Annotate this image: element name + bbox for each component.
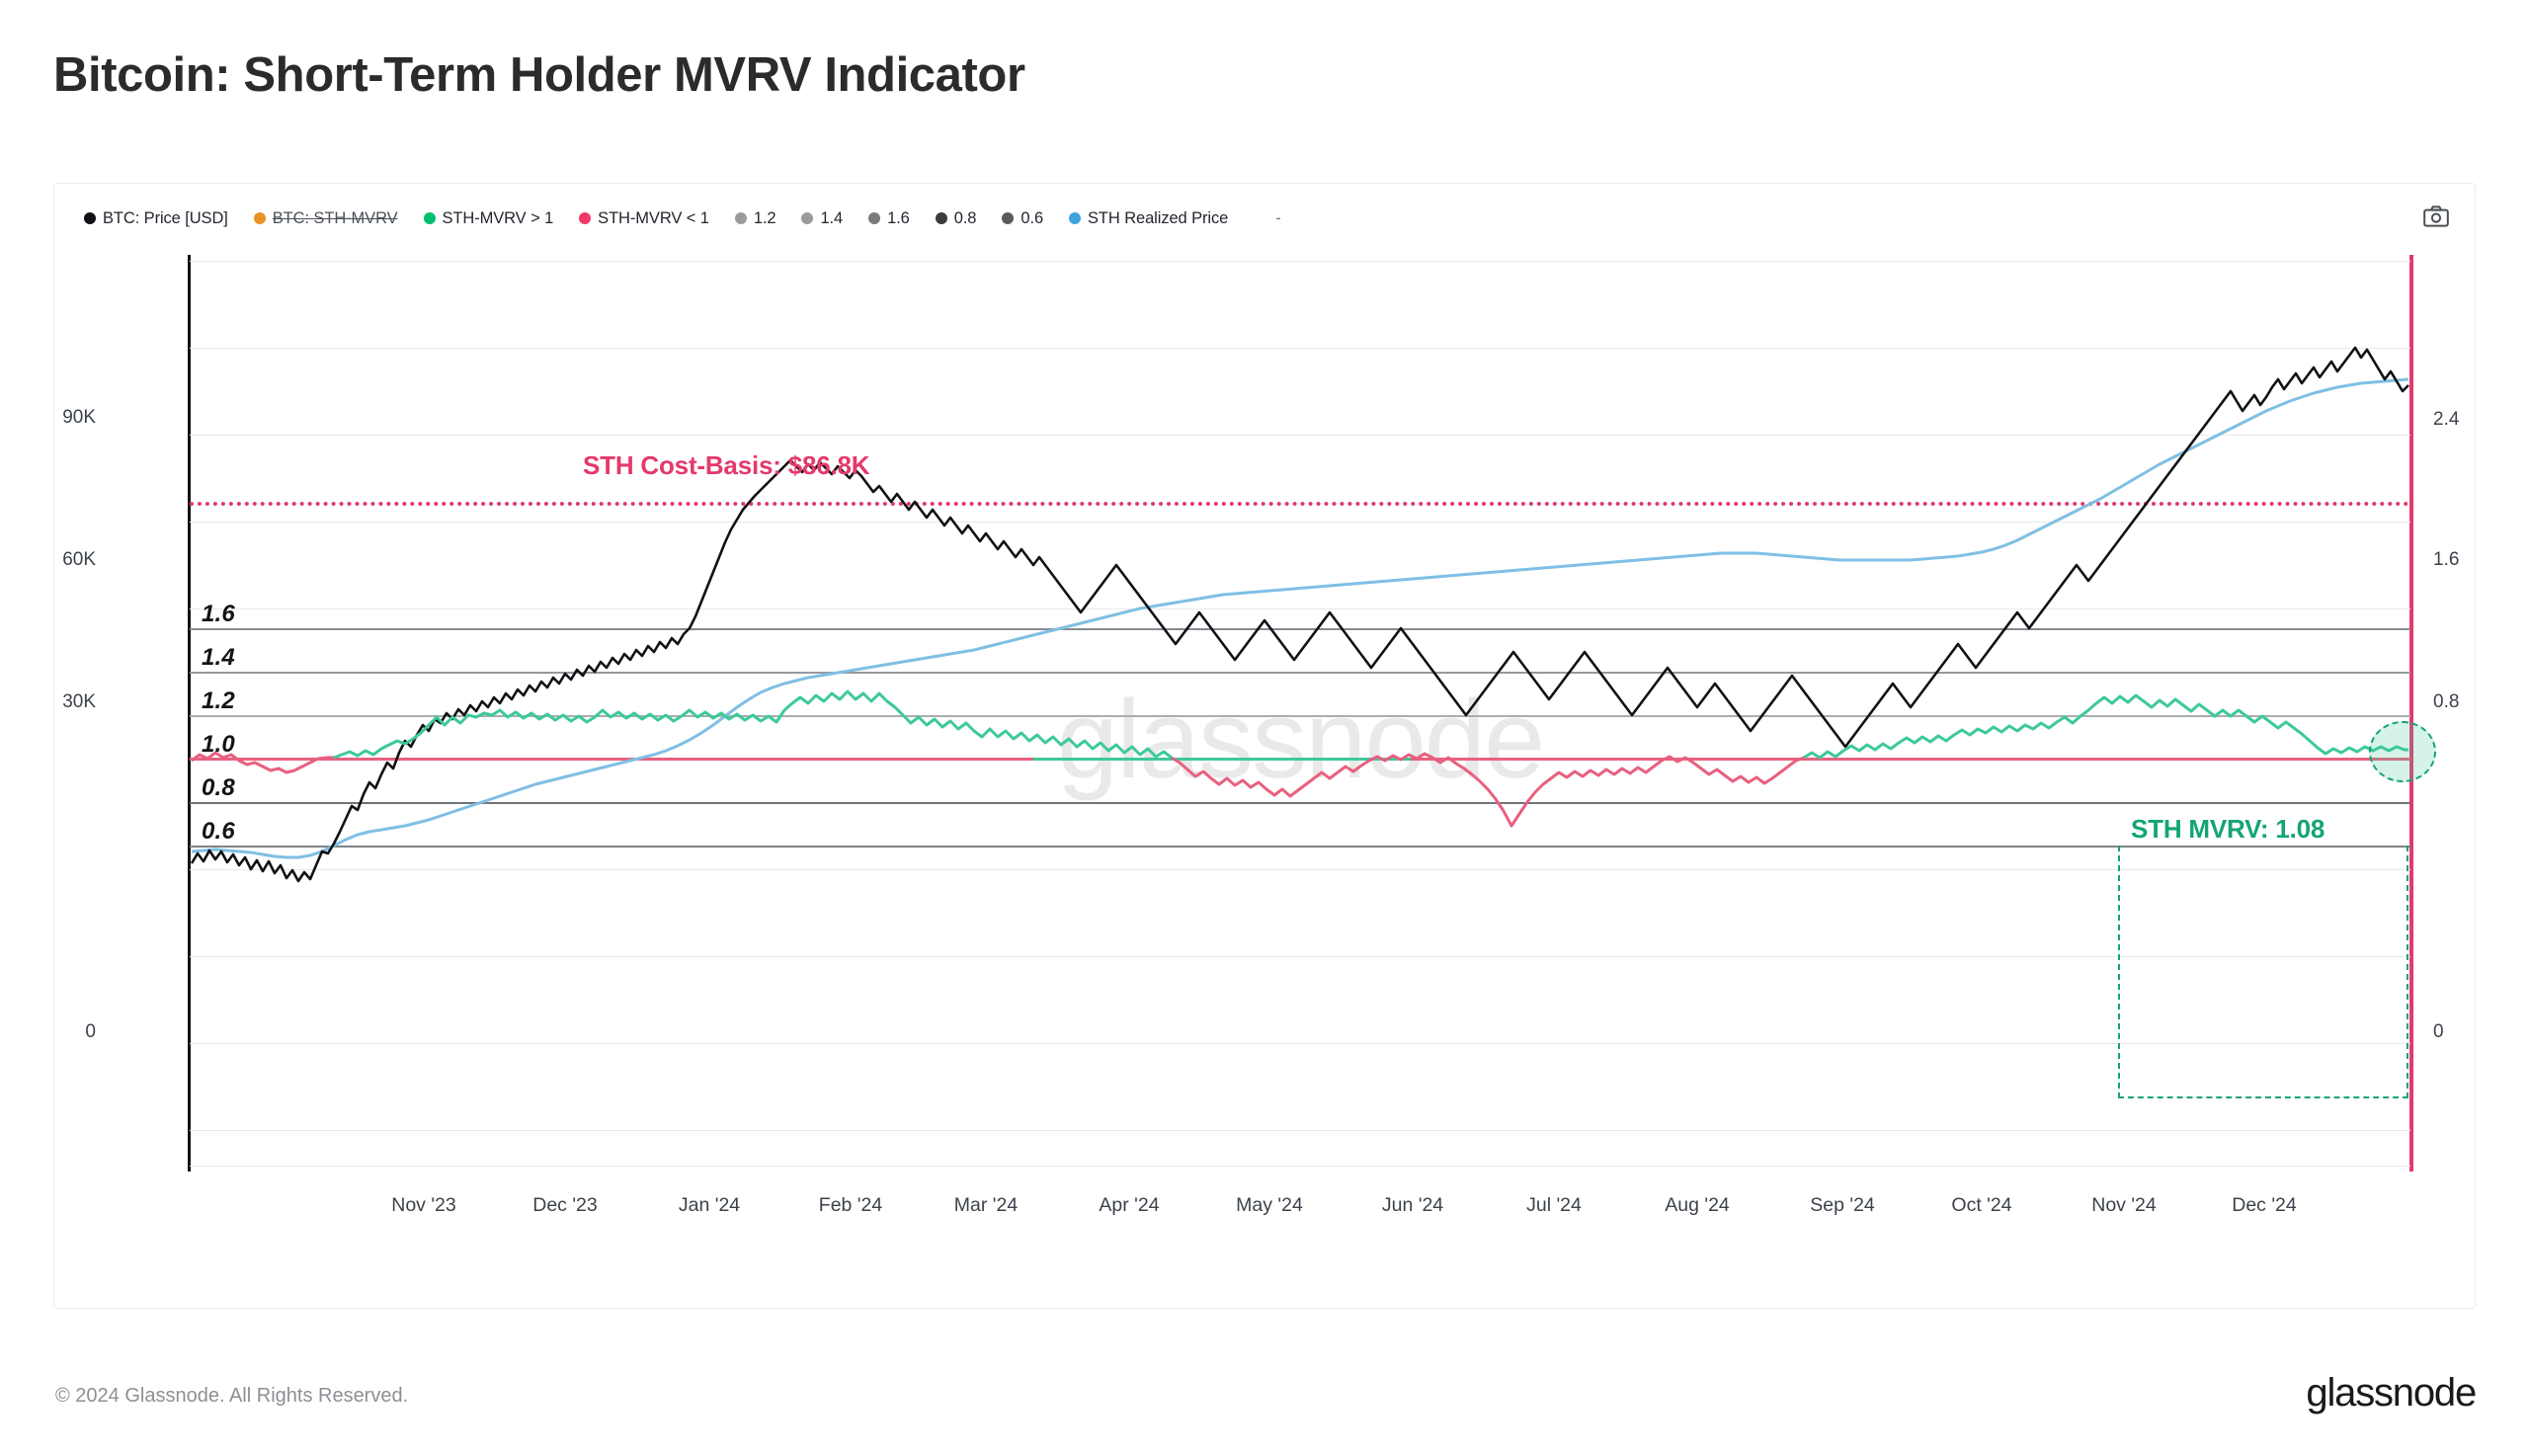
legend-dot-icon	[254, 212, 266, 224]
legend-label: BTC: STH-MVRV	[273, 209, 398, 228]
legend-item-mvrv-above-one[interactable]: STH-MVRV > 1	[424, 209, 554, 228]
y-axis-right-tick-0-8: 0.8	[2433, 691, 2459, 713]
series-btc-price	[192, 348, 2408, 881]
series-sth-realized-price	[192, 379, 2408, 857]
x-axis-tick-oct-24: Oct '24	[1951, 1194, 2011, 1217]
chart-legend: BTC: Price [USD] BTC: STH-MVRV STH-MVRV …	[84, 207, 1281, 229]
legend-dot-icon	[424, 212, 436, 224]
legend-item-mvrv-below-one[interactable]: STH-MVRV < 1	[579, 209, 709, 228]
footer-logo: glassnode	[2306, 1371, 2476, 1416]
x-axis-tick-dec-24: Dec '24	[2232, 1194, 2297, 1217]
y-axis-right-tick-1-6: 1.6	[2433, 549, 2459, 571]
mvrv-current-point-marker	[2369, 721, 2436, 782]
x-axis-tick-mar-24: Mar '24	[954, 1194, 1018, 1217]
legend-dot-icon	[936, 212, 947, 224]
x-axis-tick-nov-23: Nov '23	[391, 1194, 456, 1217]
legend-dot-icon	[801, 212, 813, 224]
legend-item-band-1-6[interactable]: 1.6	[868, 209, 910, 228]
series-sth-mvrv-below-one-mid	[1172, 754, 1804, 826]
legend-item-btc-price[interactable]: BTC: Price [USD]	[84, 209, 228, 228]
screenshot-button[interactable]	[2419, 202, 2453, 231]
x-axis-tick-apr-24: Apr '24	[1099, 1194, 1159, 1217]
x-axis-tick-dec-23: Dec '23	[532, 1194, 598, 1217]
cost-basis-annotation: STH Cost-Basis: $86.8K	[583, 450, 869, 481]
y-axis-left-tick-60k: 60K	[62, 549, 96, 571]
legend-label: STH Realized Price	[1088, 209, 1228, 228]
series-sth-mvrv-above-one	[334, 691, 1172, 758]
series-canvas	[190, 261, 2410, 1168]
y-axis-right-tick-2-4: 2.4	[2433, 409, 2459, 431]
legend-dot-icon	[1069, 212, 1081, 224]
legend-label: BTC: Price [USD]	[103, 209, 228, 228]
legend-label: 1.2	[754, 209, 776, 228]
legend-dot-icon	[868, 212, 880, 224]
legend-dot-icon	[579, 212, 591, 224]
y-axis-left-tick-0: 0	[85, 1021, 96, 1043]
camera-icon	[2423, 205, 2449, 227]
legend-label: 0.6	[1020, 209, 1043, 228]
plot-area: glassnode 1.6 1	[190, 261, 2410, 1168]
legend-label: 0.8	[954, 209, 977, 228]
x-axis-tick-aug-24: Aug '24	[1665, 1194, 1730, 1217]
x-axis-tick-jul-24: Jul '24	[1526, 1194, 1582, 1217]
page-title: Bitcoin: Short-Term Holder MVRV Indicato…	[53, 47, 1025, 103]
legend-item-btc-sth-mvrv[interactable]: BTC: STH-MVRV	[254, 209, 398, 228]
legend-dot-icon	[735, 212, 747, 224]
mvrv-callout-box	[2118, 846, 2408, 1098]
legend-dot-icon	[1002, 212, 1014, 224]
x-axis-tick-sep-24: Sep '24	[1810, 1194, 1875, 1217]
legend-item-band-0-6[interactable]: 0.6	[1002, 209, 1043, 228]
legend-item-band-1-4[interactable]: 1.4	[801, 209, 843, 228]
series-sth-mvrv-below-one-early	[192, 753, 334, 772]
legend-label: 1.4	[820, 209, 843, 228]
legend-item-band-0-8[interactable]: 0.8	[936, 209, 977, 228]
y-axis-right-tick-0: 0	[2433, 1021, 2444, 1043]
legend-trailing-dash: -	[1275, 209, 1281, 228]
legend-label: 1.6	[887, 209, 910, 228]
chart-card: BTC: Price [USD] BTC: STH-MVRV STH-MVRV …	[53, 183, 2476, 1309]
legend-label: STH-MVRV > 1	[443, 209, 554, 228]
legend-label: STH-MVRV < 1	[598, 209, 709, 228]
mvrv-annotation: STH MVRV: 1.08	[2131, 814, 2325, 845]
y-axis-left-tick-90k: 90K	[62, 407, 96, 429]
legend-item-band-1-2[interactable]: 1.2	[735, 209, 776, 228]
x-axis-tick-may-24: May '24	[1236, 1194, 1303, 1217]
footer-copyright: © 2024 Glassnode. All Rights Reserved.	[55, 1385, 408, 1408]
x-axis-tick-nov-24: Nov '24	[2091, 1194, 2157, 1217]
legend-item-sth-realized-price[interactable]: STH Realized Price	[1069, 209, 1228, 228]
y-axis-left-tick-30k: 30K	[62, 691, 96, 713]
series-sth-mvrv-above-one-late	[1804, 695, 2408, 758]
x-axis-tick-jun-24: Jun '24	[1382, 1194, 1443, 1217]
x-axis-tick-jan-24: Jan '24	[679, 1194, 740, 1217]
legend-dot-icon	[84, 212, 96, 224]
chart-page: Bitcoin: Short-Term Holder MVRV Indicato…	[0, 0, 2529, 1456]
x-axis-tick-feb-24: Feb '24	[819, 1194, 882, 1217]
